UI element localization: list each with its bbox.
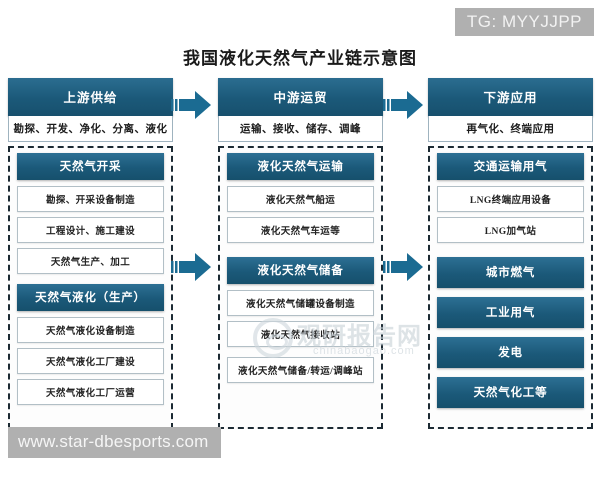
column-subheader-upstream: 勘探、开发、净化、分离、液化 xyxy=(8,116,173,142)
group-title-gas-liquefaction: 天然气液化（生产） xyxy=(17,284,164,311)
list-item: 工业用气 xyxy=(437,297,584,328)
column-header-upstream: 上游供给 xyxy=(8,78,173,116)
arrow-right-icon xyxy=(383,88,425,122)
list-item: 城市燃气 xyxy=(437,257,584,288)
list-item: 勘探、开采设备制造 xyxy=(17,186,164,212)
column-midstream: 中游运贸 运输、接收、储存、调峰 液化天然气运输 液化天然气船运 液化天然气车运… xyxy=(218,78,383,429)
top-right-watermark: TG: MYYJJPP xyxy=(455,8,594,36)
page-title: 我国液化天然气产业链示意图 xyxy=(0,44,600,69)
spacer xyxy=(227,248,374,257)
list-item: 发电 xyxy=(437,337,584,368)
group-title-transport-gas: 交通运输用气 xyxy=(437,153,584,180)
list-item: 液化天然气车运等 xyxy=(227,217,374,243)
group-title-gas-extraction: 天然气开采 xyxy=(17,153,164,180)
list-item: 液化天然气船运 xyxy=(227,186,374,212)
dashed-container-midstream: 液化天然气运输 液化天然气船运 液化天然气车运等 液化天然气储备 液化天然气储罐… xyxy=(218,146,383,429)
spacer xyxy=(437,248,584,257)
list-item: LNG终端应用设备 xyxy=(437,186,584,212)
column-subheader-midstream: 运输、接收、储存、调峰 xyxy=(218,116,383,142)
list-item: 天然气化工等 xyxy=(437,377,584,408)
column-upstream: 上游供给 勘探、开发、净化、分离、液化 天然气开采 勘探、开采设备制造 工程设计… xyxy=(8,78,173,429)
column-subheader-downstream: 再气化、终端应用 xyxy=(428,116,593,142)
column-header-midstream: 中游运贸 xyxy=(218,78,383,116)
column-downstream: 下游应用 再气化、终端应用 交通运输用气 LNG终端应用设备 LNG加气站 城市… xyxy=(428,78,593,429)
list-item: 天然气液化工厂建设 xyxy=(17,348,164,374)
list-item: 液化天然气储备/转运/调峰站 xyxy=(227,357,374,383)
dashed-container-upstream: 天然气开采 勘探、开采设备制造 工程设计、施工建设 天然气生产、加工 天然气液化… xyxy=(8,146,173,429)
list-item: 液化天然气接收站 xyxy=(227,321,374,347)
list-item: 工程设计、施工建设 xyxy=(17,217,164,243)
group-title-lng-storage: 液化天然气储备 xyxy=(227,257,374,284)
list-item: 天然气液化工厂运营 xyxy=(17,379,164,405)
arrow-right-icon xyxy=(383,250,425,284)
arrow-right-icon xyxy=(171,250,213,284)
arrow-right-icon xyxy=(171,88,213,122)
bottom-left-watermark: www.star-dbesports.com xyxy=(8,427,221,458)
industry-chain-diagram: TG: MYYJJPP 我国液化天然气产业链示意图 上游供给 勘探、开发、净化、… xyxy=(0,0,600,480)
list-item: 液化天然气储罐设备制造 xyxy=(227,290,374,316)
list-item: LNG加气站 xyxy=(437,217,584,243)
group-title-lng-transport: 液化天然气运输 xyxy=(227,153,374,180)
columns-container: 上游供给 勘探、开发、净化、分离、液化 天然气开采 勘探、开采设备制造 工程设计… xyxy=(0,78,600,438)
list-item: 天然气生产、加工 xyxy=(17,248,164,274)
list-item: 天然气液化设备制造 xyxy=(17,317,164,343)
column-header-downstream: 下游应用 xyxy=(428,78,593,116)
dashed-container-downstream: 交通运输用气 LNG终端应用设备 LNG加气站 城市燃气 工业用气 发电 天然气… xyxy=(428,146,593,429)
